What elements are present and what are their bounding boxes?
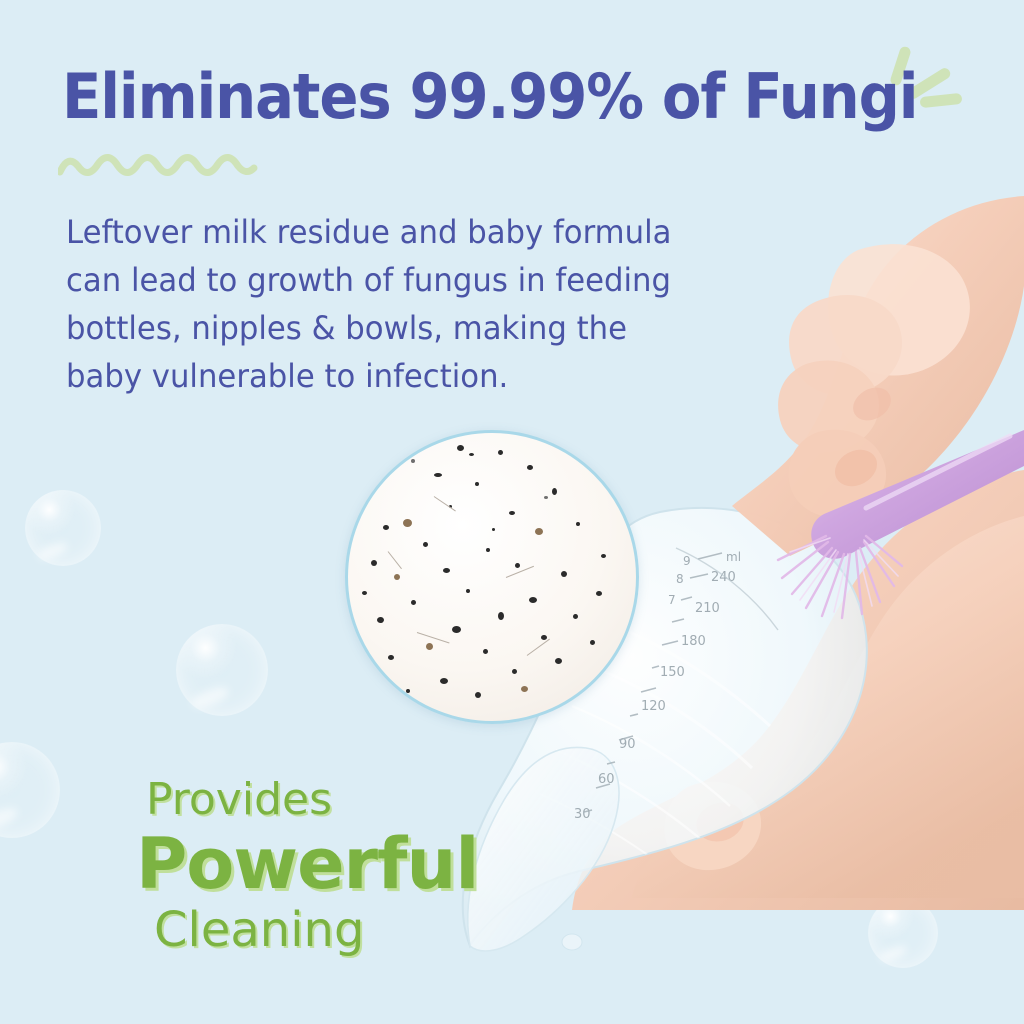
claim-line-cleaning: Cleaning [154,903,478,957]
magnifier-circle-icon [345,430,639,724]
svg-text:180: 180 [681,634,706,649]
marketing-banner: 9 8 7 ml 240 210 180 150 120 90 60 30 [0,0,1024,1024]
body-line: baby vulnerable to infection. [66,352,738,400]
body-line: can lead to growth of fungus in feeding [66,256,738,304]
svg-text:ml: ml [726,550,741,564]
svg-text:30: 30 [574,807,591,822]
svg-text:9: 9 [683,554,691,568]
page-title: Eliminates 99.99% of Fungi [62,64,917,129]
body-line: Leftover milk residue and baby formula [66,208,738,256]
svg-text:150: 150 [660,665,685,680]
claim-line-powerful: Powerful [136,825,478,903]
svg-text:210: 210 [695,601,720,616]
claim-line-provides: Provides [146,775,478,825]
body-paragraph: Leftover milk residue and baby formula c… [66,208,738,400]
svg-text:120: 120 [641,699,666,714]
svg-text:8: 8 [676,572,684,586]
body-line: bottles, nipples & bowls, making the [66,304,738,352]
wave-underline-icon [58,142,258,186]
svg-text:7: 7 [668,593,676,607]
claim-block: Provides Powerful Cleaning [140,775,478,957]
